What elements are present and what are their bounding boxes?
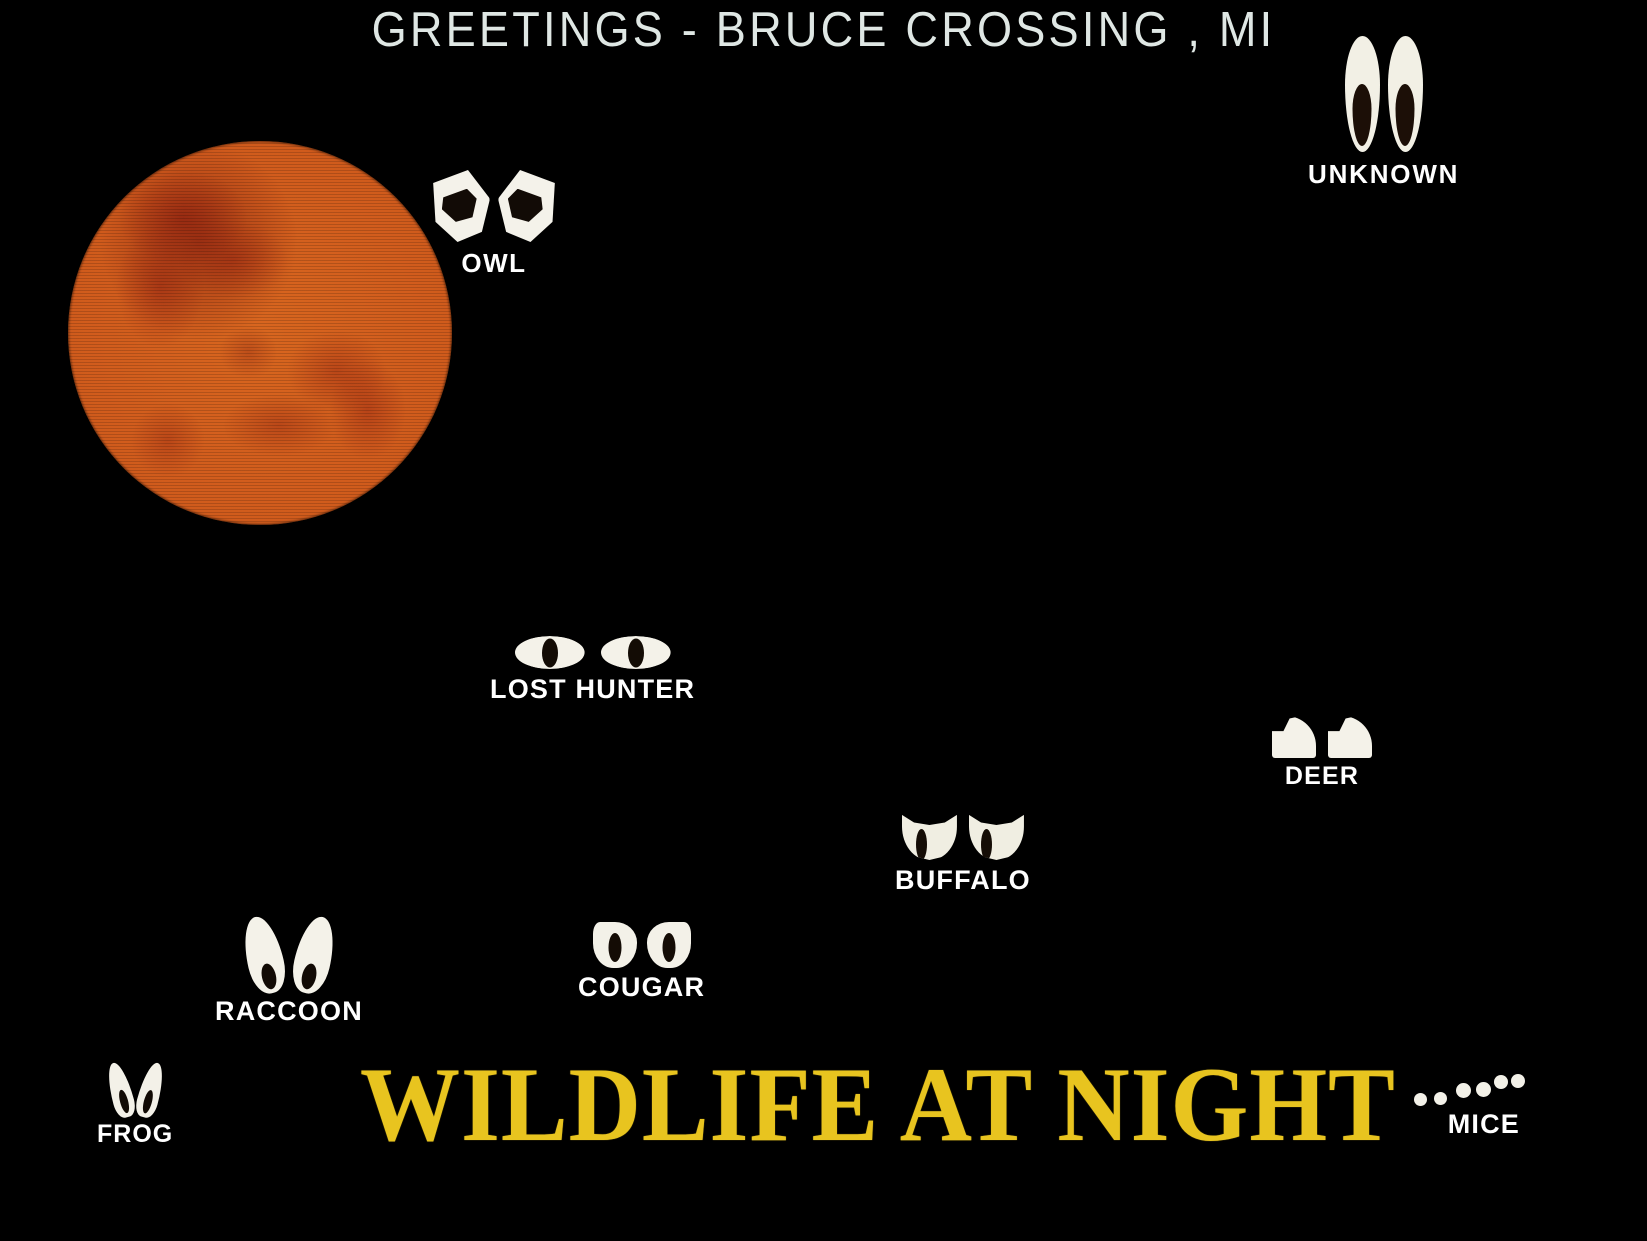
creature-cougar: COUGAR — [578, 922, 705, 1001]
mouse-eye-dot — [1494, 1075, 1508, 1089]
creature-lost-hunter: LOST HUNTER — [490, 636, 695, 703]
cougar-eyes-icon — [578, 922, 705, 968]
mouse-eye-dot — [1414, 1093, 1427, 1106]
creature-deer: DEER — [1272, 716, 1372, 789]
creature-label-unknown: UNKNOWN — [1308, 161, 1459, 187]
lost-hunter-eye-right — [601, 636, 671, 669]
buffalo-eyes-icon — [895, 812, 1031, 860]
creature-frog: FROG — [97, 1062, 173, 1147]
owl-eye-right — [498, 170, 556, 242]
lost-hunter-eye-left — [515, 636, 585, 669]
creature-buffalo: BUFFALO — [895, 812, 1031, 894]
deer-eye-left — [1272, 716, 1316, 758]
unknown-pupil-right — [1396, 84, 1415, 146]
creature-unknown: UNKNOWN — [1308, 36, 1459, 187]
deer-eye-right — [1328, 716, 1372, 758]
frog-pupil-left — [116, 1089, 130, 1114]
cougar-eye-left — [593, 922, 637, 968]
creature-label-owl: OWL — [432, 250, 556, 276]
unknown-eye-left — [1345, 36, 1380, 152]
buffalo-pupil-right — [981, 829, 992, 860]
wildlife-at-night-postcard: GREETINGS - BRUCE CROSSING , MI OWL UNKN… — [0, 0, 1647, 1241]
raccoon-pupil-left — [259, 962, 278, 990]
raccoon-pupil-right — [299, 962, 318, 990]
lost-hunter-eyes-icon — [490, 636, 695, 669]
raccoon-eyes-icon — [215, 916, 363, 994]
owl-pupil-left — [442, 189, 477, 222]
unknown-eyes-icon — [1308, 36, 1459, 152]
mice-eyes-icon — [1412, 1073, 1522, 1107]
deer-eyes-icon — [1272, 716, 1372, 758]
full-moon-image — [68, 141, 452, 525]
owl-eye-left — [432, 170, 490, 242]
lost-hunter-pupil-left — [542, 638, 558, 667]
creature-label-lost-hunter: LOST HUNTER — [490, 676, 695, 703]
buffalo-eye-right — [969, 812, 1024, 860]
frog-eye-right — [133, 1060, 168, 1120]
cougar-pupil-left — [608, 933, 621, 962]
frog-eye-left — [103, 1060, 138, 1120]
unknown-pupil-left — [1353, 84, 1372, 146]
creature-label-raccoon: RACCOON — [215, 998, 363, 1025]
owl-pupil-right — [508, 189, 543, 222]
cougar-eye-right — [647, 922, 691, 968]
unknown-eye-right — [1388, 36, 1423, 152]
mouse-eye-dot — [1456, 1083, 1471, 1098]
raccoon-eye-left — [238, 913, 291, 997]
buffalo-eye-left — [902, 812, 957, 860]
mouse-eye-dot — [1476, 1082, 1491, 1097]
frog-pupil-right — [140, 1089, 154, 1114]
creature-label-mice: MICE — [1412, 1111, 1522, 1138]
mouse-eye-dot — [1434, 1092, 1447, 1105]
raccoon-eye-right — [288, 913, 341, 997]
frog-eyes-icon — [97, 1062, 173, 1118]
owl-eyes-icon — [432, 170, 556, 242]
creature-mice: MICE — [1412, 1073, 1522, 1138]
creature-label-frog: FROG — [97, 1122, 173, 1147]
creature-raccoon: RACCOON — [215, 916, 363, 1025]
cougar-pupil-right — [662, 933, 675, 962]
mouse-eye-dot — [1511, 1074, 1525, 1088]
buffalo-pupil-left — [916, 829, 927, 860]
creature-owl: OWL — [432, 170, 556, 276]
lost-hunter-pupil-right — [628, 638, 644, 667]
main-title: WILDLIFE AT NIGHT — [360, 1052, 1380, 1158]
creature-label-cougar: COUGAR — [578, 974, 705, 1001]
creature-label-deer: DEER — [1272, 764, 1372, 789]
creature-label-buffalo: BUFFALO — [895, 867, 1031, 894]
